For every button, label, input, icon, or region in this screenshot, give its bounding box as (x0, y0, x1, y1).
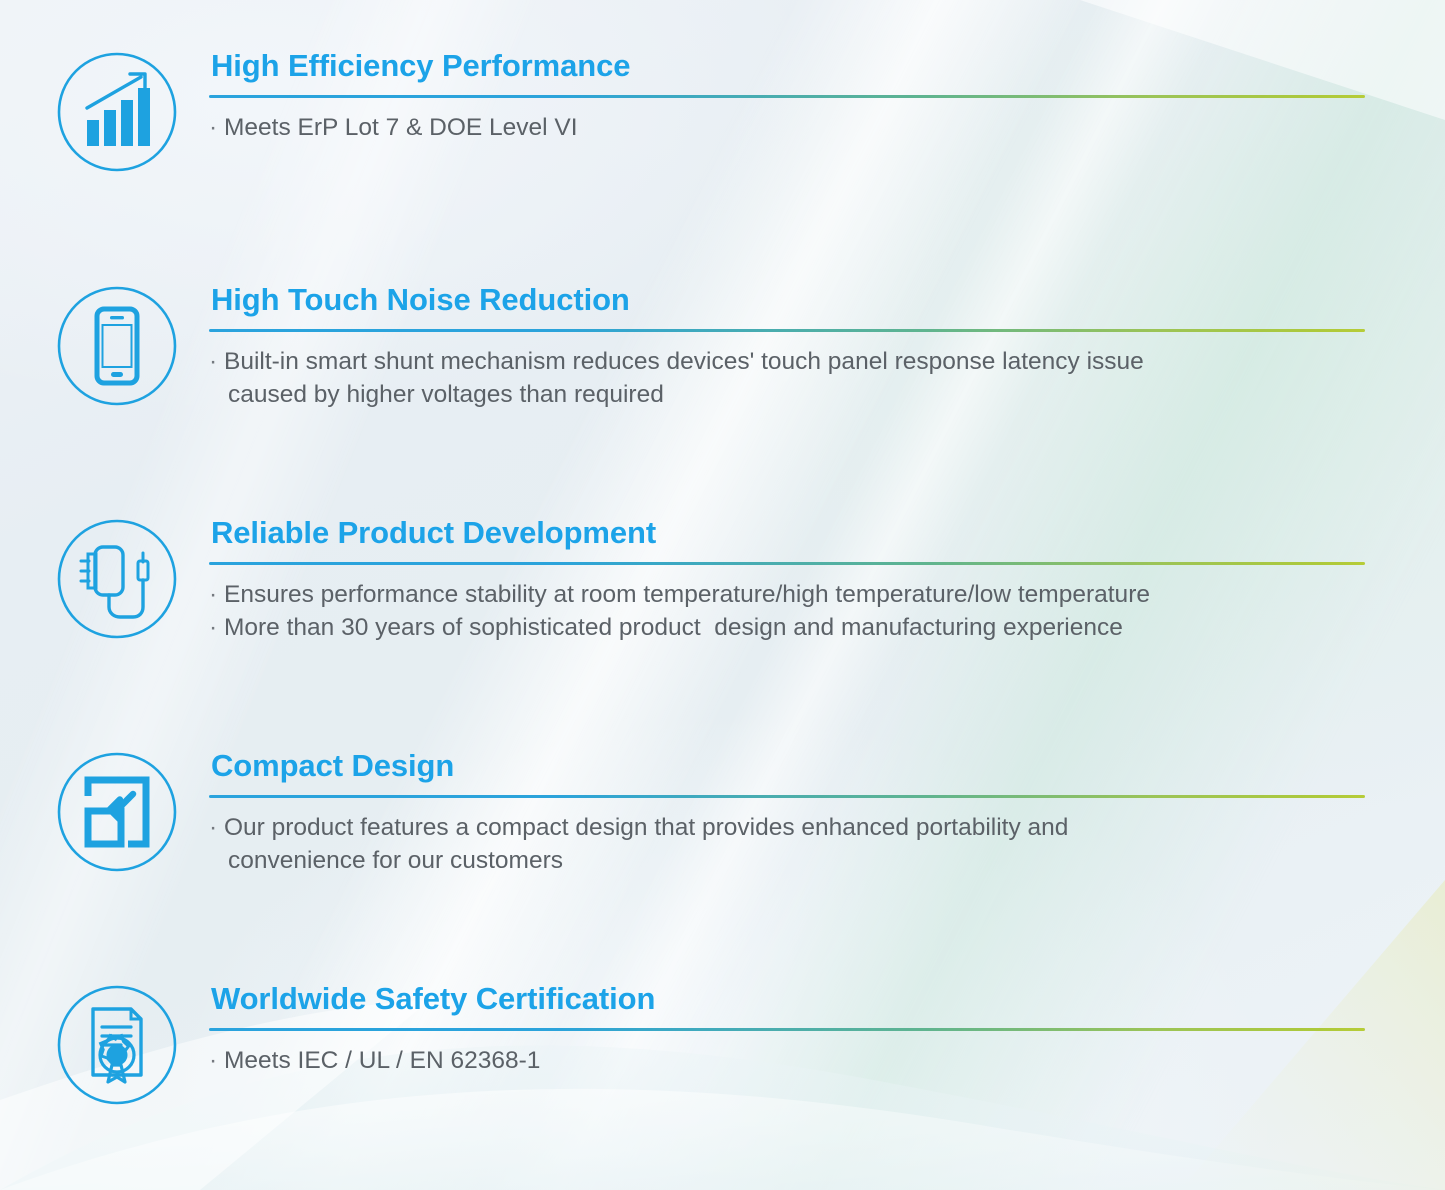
feature-text-column: Worldwide Safety Certification · Meets I… (209, 983, 1445, 1077)
feature-bullets: · Built-in smart shunt mechanism reduces… (209, 345, 1445, 412)
bullet-marker: · (209, 1047, 217, 1074)
bullet-text-continuation: caused by higher voltages than required (209, 378, 1389, 411)
feature-bullet: · Meets IEC / UL / EN 62368-1 (209, 1044, 1445, 1077)
feature-text-column: Compact Design · Our product features a … (209, 750, 1445, 877)
bullet-text: Built-in smart shunt mechanism reduces d… (224, 348, 1144, 375)
feature-bullet: · Built-in smart shunt mechanism reduces… (209, 345, 1389, 412)
feature-divider (209, 95, 1365, 98)
bullet-text-continuation: convenience for our customers (209, 844, 1389, 877)
feature-divider (209, 329, 1365, 332)
feature-bullets: · Our product features a compact design … (209, 811, 1445, 878)
feature-text-column: Reliable Product Development · Ensures p… (209, 517, 1445, 644)
bullet-text: Ensures performance stability at room te… (224, 581, 1150, 608)
feature-bullet: · More than 30 years of sophisticated pr… (209, 611, 1445, 644)
bar-chart-growth-icon (55, 50, 179, 174)
bullet-marker: · (209, 114, 217, 141)
feature-divider (209, 795, 1365, 798)
feature-list: High Efficiency Performance · Meets ErP … (0, 0, 1445, 1190)
bullet-marker: · (209, 814, 217, 841)
bullet-text: Meets IEC / UL / EN 62368-1 (224, 1047, 540, 1074)
bullet-text: Meets ErP Lot 7 & DOE Level VI (224, 114, 578, 141)
bullet-marker: · (209, 348, 217, 375)
feature-divider (209, 1028, 1365, 1031)
power-adapter-icon (55, 517, 179, 641)
feature-bullets: · Meets ErP Lot 7 & DOE Level VI (209, 111, 1445, 144)
smartphone-icon (55, 284, 179, 408)
feature-title: Worldwide Safety Certification (211, 983, 1445, 1016)
feature-bullets: · Ensures performance stability at room … (209, 578, 1445, 645)
bullet-text: Our product features a compact design th… (224, 814, 1068, 841)
feature-title: Reliable Product Development (211, 517, 1445, 550)
feature-text-column: High Efficiency Performance · Meets ErP … (209, 50, 1445, 144)
feature-divider (209, 562, 1365, 565)
feature-bullet: · Our product features a compact design … (209, 811, 1389, 878)
compact-resize-icon (55, 750, 179, 874)
feature-bullet: · Meets ErP Lot 7 & DOE Level VI (209, 111, 1445, 144)
feature-title: High Efficiency Performance (211, 50, 1445, 83)
feature-title: High Touch Noise Reduction (211, 284, 1445, 317)
bullet-marker: · (209, 614, 217, 641)
feature-bullets: · Meets IEC / UL / EN 62368-1 (209, 1044, 1445, 1077)
feature-bullet: · Ensures performance stability at room … (209, 578, 1445, 611)
certificate-award-icon (55, 983, 179, 1107)
feature-title: Compact Design (211, 750, 1445, 783)
bullet-marker: · (209, 581, 217, 608)
bullet-text: More than 30 years of sophisticated prod… (224, 614, 1123, 641)
feature-text-column: High Touch Noise Reduction · Built-in sm… (209, 284, 1445, 411)
